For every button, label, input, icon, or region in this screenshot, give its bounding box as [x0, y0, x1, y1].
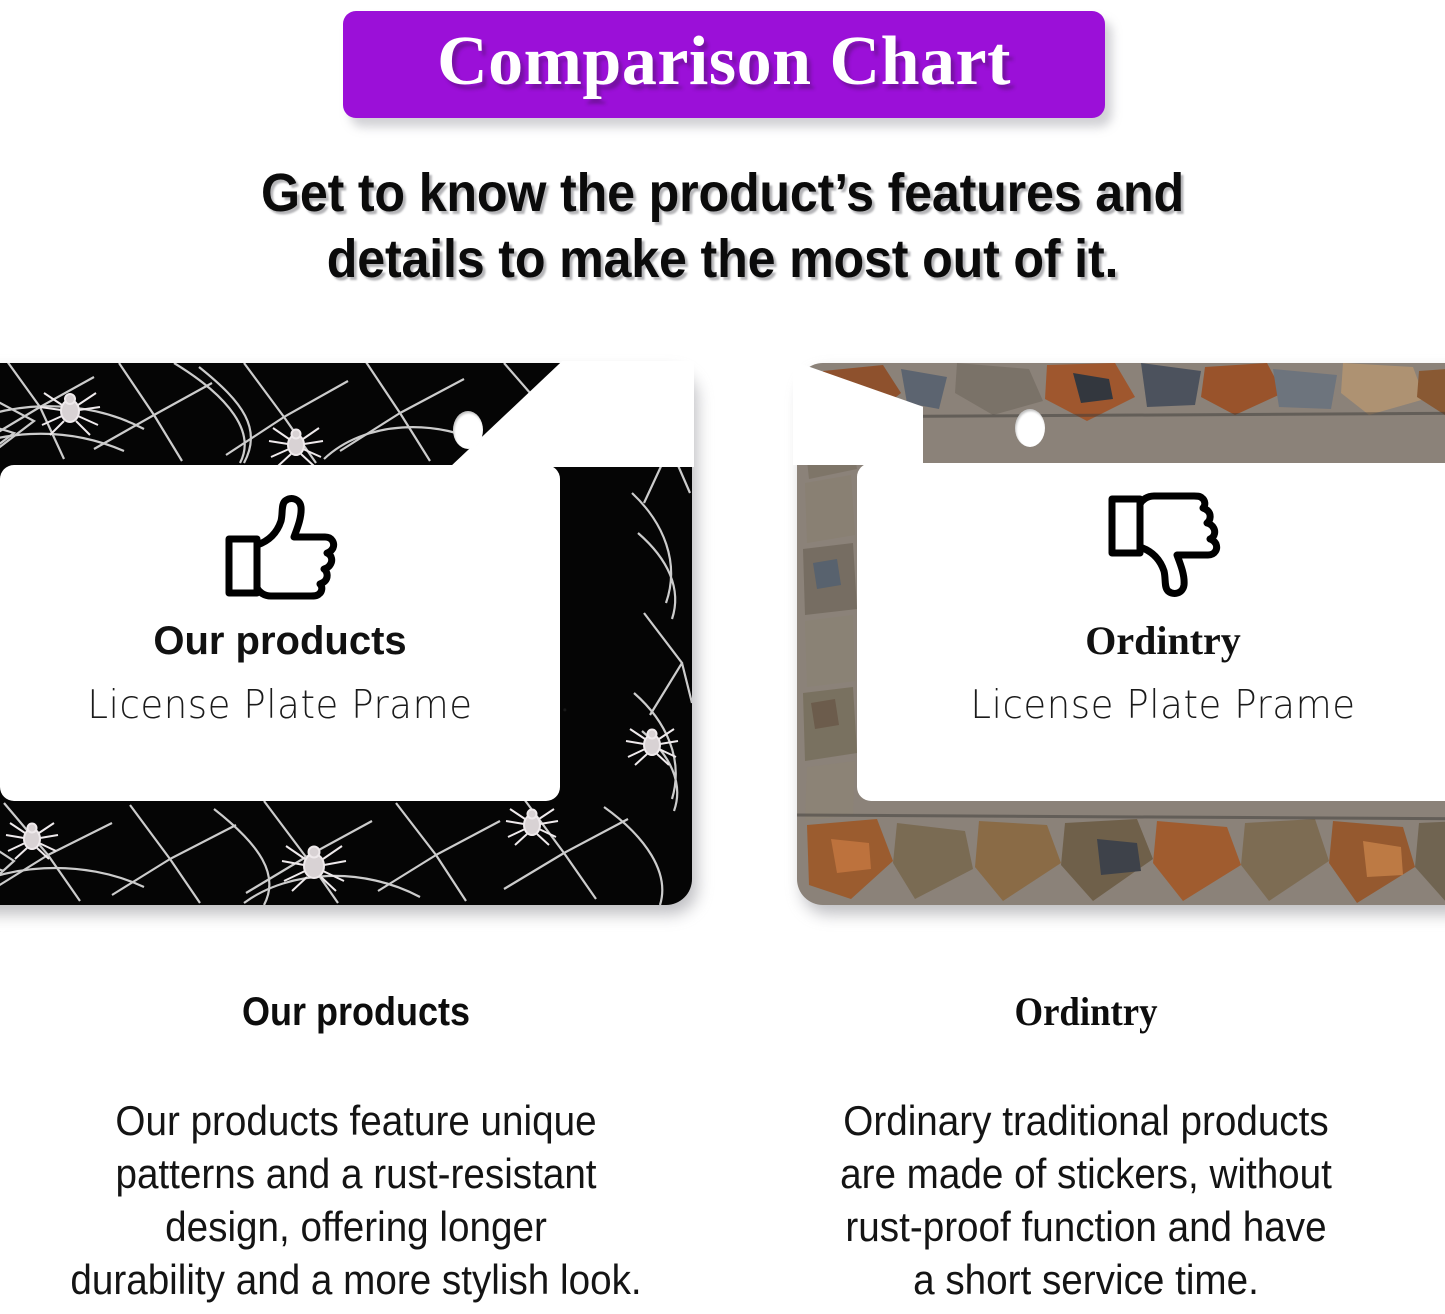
column-heading: Ordintry — [758, 990, 1413, 1034]
column-description: Ordinary traditional products are made o… — [758, 1094, 1413, 1306]
description-line: patterns and a rust-resistant — [28, 1147, 683, 1200]
thumbs-down-icon — [1104, 491, 1222, 599]
description-line: a short service time. — [758, 1253, 1413, 1306]
description-line: Our products feature unique — [28, 1094, 683, 1147]
description-line: design, offering longer — [28, 1200, 683, 1253]
ordinary-product-description-column: Ordintry Ordinary traditional products a… — [730, 990, 1442, 1306]
description-line: are made of stickers, without — [758, 1147, 1413, 1200]
mounting-hole — [1015, 409, 1045, 447]
our-product-plate-frame: Our products License Plate Prame — [0, 363, 692, 905]
column-heading: Our products — [36, 990, 677, 1034]
column-description: Our products feature unique patterns and… — [28, 1094, 683, 1306]
panel-title: Our products — [0, 619, 560, 663]
our-product-description-column: Our products Our products feature unique… — [0, 990, 712, 1306]
panel-subtitle: License Plate Prame — [872, 685, 1445, 728]
description-line: rust-proof function and have — [758, 1200, 1413, 1253]
ordinary-product-panel-content: Ordintry License Plate Prame — [857, 463, 1445, 728]
thumbs-up-icon — [221, 493, 339, 601]
panel-title: Ordintry — [857, 619, 1445, 663]
mounting-hole — [453, 411, 483, 449]
ordinary-product-plate-frame: Ordintry License Plate Prame — [797, 363, 1445, 905]
panel-subtitle: License Plate Prame — [14, 685, 546, 728]
description-line: Ordinary traditional products — [758, 1094, 1413, 1147]
our-product-panel-content: Our products License Plate Prame — [0, 465, 560, 728]
description-line: durability and a more stylish look. — [28, 1253, 683, 1306]
